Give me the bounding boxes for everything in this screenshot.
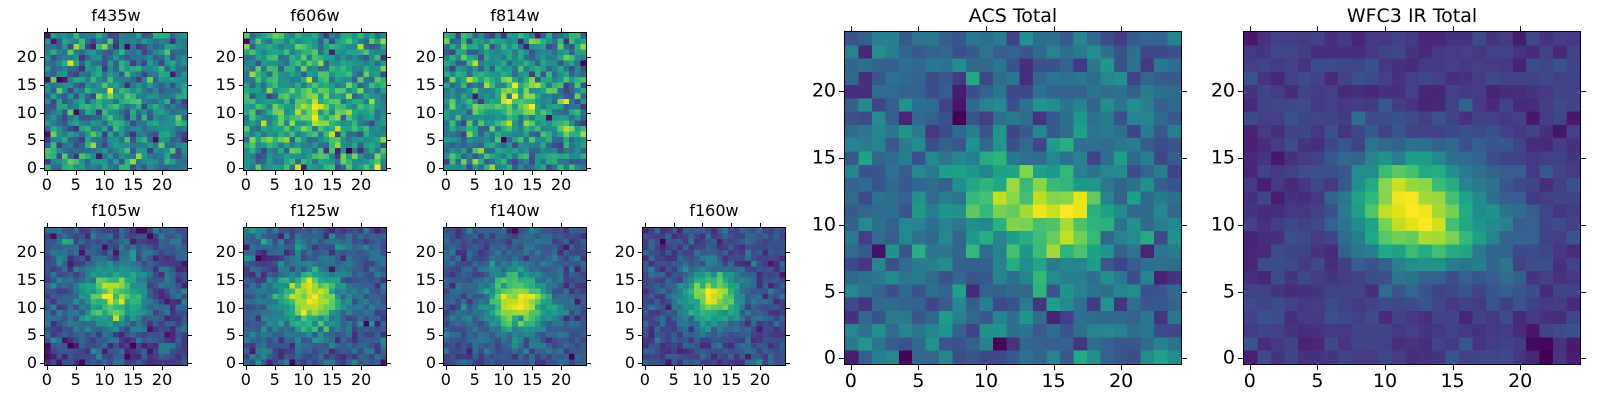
x-tick-top-f140w-3 (532, 223, 533, 227)
y-tick-label-f105w-3: 15 (0, 272, 37, 288)
x-tick-top-f160w-0 (645, 223, 646, 227)
y-tick-f105w-3 (40, 280, 44, 281)
y-tick-f140w-4 (439, 252, 443, 253)
y-tick-f435w-4 (40, 57, 44, 58)
y-tick-label-f140w-2: 10 (383, 300, 436, 316)
y-tick-label-wfc3-ir-total-1: 5 (1183, 282, 1235, 301)
y-tick-f435w-3 (40, 85, 44, 86)
y-tick-acs-total-3 (839, 158, 844, 159)
panel-title-f140w: f140w (443, 203, 587, 219)
y-tick-label-acs-total-1: 5 (784, 282, 836, 301)
y-tick-f606w-2 (239, 113, 243, 114)
x-tick-label-f160w-2: 10 (692, 372, 712, 388)
y-tick-f814w-0 (439, 168, 443, 169)
x-tick-label-wfc3-ir-total-2: 10 (1373, 372, 1397, 391)
y-tick-right-f814w-4 (587, 57, 591, 58)
y-tick-label-f160w-1: 5 (582, 327, 635, 343)
x-tick-top-f105w-0 (47, 223, 48, 227)
x-tick-label-f606w-1: 5 (270, 177, 280, 193)
x-tick-label-f125w-4: 20 (351, 372, 371, 388)
y-tick-label-f606w-4: 20 (183, 49, 236, 65)
x-tick-label-acs-total-2: 10 (974, 372, 998, 391)
x-tick-label-f105w-3: 15 (123, 372, 143, 388)
panel-wfc3-ir-total: WFC3 IR Total0510152005101520 (1183, 5, 1600, 395)
y-tick-f125w-3 (239, 280, 243, 281)
heatmap-image-f160w (642, 227, 786, 366)
y-tick-label-f435w-0: 0 (0, 160, 37, 176)
y-tick-label-f435w-3: 15 (0, 77, 37, 93)
y-tick-label-f160w-3: 15 (582, 272, 635, 288)
x-tick-top-f160w-2 (702, 223, 703, 227)
x-tick-label-wfc3-ir-total-1: 5 (1311, 372, 1323, 391)
y-tick-label-wfc3-ir-total-3: 15 (1183, 148, 1235, 167)
y-tick-label-f814w-0: 0 (383, 160, 436, 176)
heatmap-image-f814w (443, 32, 587, 171)
y-tick-f105w-1 (40, 335, 44, 336)
y-tick-f435w-2 (40, 113, 44, 114)
y-tick-label-acs-total-3: 15 (784, 148, 836, 167)
y-tick-f140w-2 (439, 308, 443, 309)
x-tick-label-f140w-2: 10 (493, 372, 513, 388)
y-tick-acs-total-0 (839, 358, 844, 359)
x-tick-top-f814w-1 (475, 28, 476, 32)
y-tick-label-f814w-4: 20 (383, 49, 436, 65)
x-tick-top-f140w-2 (503, 223, 504, 227)
x-tick-top-f160w-1 (674, 223, 675, 227)
y-tick-acs-total-1 (839, 292, 844, 293)
y-tick-label-f125w-4: 20 (183, 244, 236, 260)
y-tick-wfc3-ir-total-3 (1238, 158, 1243, 159)
y-tick-f105w-2 (40, 308, 44, 309)
x-tick-label-f140w-1: 5 (470, 372, 480, 388)
x-tick-top-f160w-3 (731, 223, 732, 227)
y-tick-f814w-1 (439, 140, 443, 141)
y-tick-label-f435w-2: 10 (0, 105, 37, 121)
x-tick-top-f105w-1 (76, 223, 77, 227)
x-tick-label-f814w-2: 10 (493, 177, 513, 193)
y-tick-f125w-4 (239, 252, 243, 253)
x-tick-top-wfc3-ir-total-2 (1385, 26, 1386, 31)
x-tick-label-f435w-0: 0 (42, 177, 52, 193)
y-tick-f435w-0 (40, 168, 44, 169)
y-tick-f160w-0 (638, 363, 642, 364)
y-tick-right-f814w-0 (587, 168, 591, 169)
y-tick-f606w-3 (239, 85, 243, 86)
x-tick-top-f140w-4 (561, 223, 562, 227)
x-tick-top-acs-total-0 (851, 26, 852, 31)
y-tick-label-f814w-3: 15 (383, 77, 436, 93)
y-tick-wfc3-ir-total-0 (1238, 358, 1243, 359)
y-tick-label-f606w-2: 10 (183, 105, 236, 121)
x-tick-label-wfc3-ir-total-3: 15 (1440, 372, 1464, 391)
y-tick-f606w-0 (239, 168, 243, 169)
y-tick-label-f160w-4: 20 (582, 244, 635, 260)
x-tick-top-f814w-3 (532, 28, 533, 32)
x-tick-top-f105w-2 (104, 223, 105, 227)
panel-title-wfc3-ir-total: WFC3 IR Total (1243, 7, 1581, 26)
y-tick-label-acs-total-2: 10 (784, 215, 836, 234)
y-tick-label-f105w-2: 10 (0, 300, 37, 316)
x-tick-label-f435w-4: 20 (152, 177, 172, 193)
panel-title-f125w: f125w (243, 203, 387, 219)
x-tick-top-f435w-2 (104, 28, 105, 32)
x-tick-top-f105w-4 (162, 223, 163, 227)
y-tick-f140w-1 (439, 335, 443, 336)
y-tick-f160w-3 (638, 280, 642, 281)
y-tick-label-f435w-1: 5 (0, 132, 37, 148)
heatmap-image-f435w (44, 32, 188, 171)
y-tick-label-f814w-2: 10 (383, 105, 436, 121)
y-tick-label-f125w-0: 0 (183, 355, 236, 371)
y-tick-right-wfc3-ir-total-0 (1581, 358, 1586, 359)
x-tick-top-acs-total-3 (1054, 26, 1055, 31)
y-tick-right-f814w-3 (587, 85, 591, 86)
y-tick-f606w-4 (239, 57, 243, 58)
x-tick-label-f140w-4: 20 (551, 372, 571, 388)
y-tick-right-wfc3-ir-total-4 (1581, 91, 1586, 92)
y-tick-label-acs-total-0: 0 (784, 349, 836, 368)
y-tick-f125w-1 (239, 335, 243, 336)
y-tick-right-wfc3-ir-total-1 (1581, 292, 1586, 293)
y-tick-label-wfc3-ir-total-4: 20 (1183, 82, 1235, 101)
panel-title-f814w: f814w (443, 8, 587, 24)
panel-f814w: f814w0510152005101520 (383, 6, 647, 201)
panel-title-f435w: f435w (44, 8, 188, 24)
y-tick-right-f814w-2 (587, 113, 591, 114)
y-tick-f814w-2 (439, 113, 443, 114)
y-tick-f160w-4 (638, 252, 642, 253)
x-tick-top-acs-total-2 (986, 26, 987, 31)
y-tick-label-f125w-1: 5 (183, 327, 236, 343)
x-tick-top-f125w-1 (275, 223, 276, 227)
y-tick-label-wfc3-ir-total-2: 10 (1183, 215, 1235, 234)
x-tick-label-f606w-2: 10 (293, 177, 313, 193)
y-tick-label-f105w-0: 0 (0, 355, 37, 371)
x-tick-label-f160w-1: 5 (669, 372, 679, 388)
x-tick-top-acs-total-1 (918, 26, 919, 31)
x-tick-top-f814w-2 (503, 28, 504, 32)
panel-title-f606w: f606w (243, 8, 387, 24)
x-tick-top-f435w-1 (76, 28, 77, 32)
x-tick-label-f814w-4: 20 (551, 177, 571, 193)
y-tick-label-f125w-3: 15 (183, 272, 236, 288)
y-tick-label-f814w-1: 5 (383, 132, 436, 148)
x-tick-label-f105w-4: 20 (152, 372, 172, 388)
x-tick-label-acs-total-1: 5 (912, 372, 924, 391)
y-tick-f160w-1 (638, 335, 642, 336)
panel-title-f105w: f105w (44, 203, 188, 219)
x-tick-top-f435w-0 (47, 28, 48, 32)
panel-acs-total: ACS Total0510152005101520 (784, 5, 1242, 395)
x-tick-label-f814w-0: 0 (441, 177, 451, 193)
y-tick-label-f606w-1: 5 (183, 132, 236, 148)
y-tick-f140w-3 (439, 280, 443, 281)
x-tick-label-f105w-1: 5 (71, 372, 81, 388)
heatmap-image-f140w (443, 227, 587, 366)
y-tick-f125w-2 (239, 308, 243, 309)
x-tick-label-f160w-4: 20 (750, 372, 770, 388)
y-tick-label-f140w-0: 0 (383, 355, 436, 371)
y-tick-f606w-1 (239, 140, 243, 141)
y-tick-wfc3-ir-total-4 (1238, 91, 1243, 92)
x-tick-label-f435w-2: 10 (94, 177, 114, 193)
y-tick-label-f140w-1: 5 (383, 327, 436, 343)
x-tick-top-wfc3-ir-total-3 (1453, 26, 1454, 31)
y-tick-label-f160w-2: 10 (582, 300, 635, 316)
y-tick-label-f606w-3: 15 (183, 77, 236, 93)
x-tick-label-f125w-0: 0 (241, 372, 251, 388)
y-tick-label-f105w-1: 5 (0, 327, 37, 343)
y-tick-label-f160w-0: 0 (582, 355, 635, 371)
x-tick-top-acs-total-4 (1121, 26, 1122, 31)
x-tick-label-f140w-3: 15 (522, 372, 542, 388)
y-tick-label-f140w-4: 20 (383, 244, 436, 260)
x-tick-label-f105w-0: 0 (42, 372, 52, 388)
y-tick-label-f606w-0: 0 (183, 160, 236, 176)
heatmap-image-f606w (243, 32, 387, 171)
x-tick-top-f435w-3 (133, 28, 134, 32)
y-tick-wfc3-ir-total-2 (1238, 225, 1243, 226)
x-tick-label-f606w-0: 0 (241, 177, 251, 193)
heatmap-image-wfc3-ir-total (1243, 31, 1581, 365)
x-tick-label-f125w-2: 10 (293, 372, 313, 388)
x-tick-top-f125w-2 (303, 223, 304, 227)
x-tick-label-wfc3-ir-total-4: 20 (1508, 372, 1532, 391)
y-tick-label-f125w-2: 10 (183, 300, 236, 316)
y-tick-label-wfc3-ir-total-0: 0 (1183, 349, 1235, 368)
x-tick-label-wfc3-ir-total-0: 0 (1244, 372, 1256, 391)
x-tick-top-f606w-3 (332, 28, 333, 32)
x-tick-label-f140w-0: 0 (441, 372, 451, 388)
y-tick-acs-total-2 (839, 225, 844, 226)
x-tick-top-f140w-0 (446, 223, 447, 227)
x-tick-top-wfc3-ir-total-4 (1520, 26, 1521, 31)
y-tick-f140w-0 (439, 363, 443, 364)
x-tick-top-f606w-1 (275, 28, 276, 32)
x-tick-label-f606w-3: 15 (322, 177, 342, 193)
panel-title-f160w: f160w (642, 203, 786, 219)
x-tick-label-acs-total-3: 15 (1041, 372, 1065, 391)
x-tick-top-f105w-3 (133, 223, 134, 227)
y-tick-f105w-0 (40, 363, 44, 364)
x-tick-label-f125w-3: 15 (322, 372, 342, 388)
x-tick-top-f125w-3 (332, 223, 333, 227)
x-tick-top-f125w-4 (361, 223, 362, 227)
x-tick-top-f814w-4 (561, 28, 562, 32)
x-tick-top-f435w-4 (162, 28, 163, 32)
x-tick-top-f125w-0 (246, 223, 247, 227)
x-tick-label-f125w-1: 5 (270, 372, 280, 388)
x-tick-label-f814w-3: 15 (522, 177, 542, 193)
y-tick-right-wfc3-ir-total-2 (1581, 225, 1586, 226)
x-tick-label-f435w-1: 5 (71, 177, 81, 193)
x-tick-label-f606w-4: 20 (351, 177, 371, 193)
x-tick-label-f435w-3: 15 (123, 177, 143, 193)
y-tick-f814w-3 (439, 85, 443, 86)
y-tick-acs-total-4 (839, 91, 844, 92)
heatmap-image-f125w (243, 227, 387, 366)
x-tick-top-wfc3-ir-total-0 (1250, 26, 1251, 31)
y-tick-right-f814w-1 (587, 140, 591, 141)
x-tick-top-f606w-0 (246, 28, 247, 32)
x-tick-top-f606w-2 (303, 28, 304, 32)
x-tick-label-acs-total-0: 0 (845, 372, 857, 391)
y-tick-f105w-4 (40, 252, 44, 253)
y-tick-label-f435w-4: 20 (0, 49, 37, 65)
x-tick-top-f160w-4 (760, 223, 761, 227)
y-tick-label-f140w-3: 15 (383, 272, 436, 288)
x-tick-label-acs-total-4: 20 (1109, 372, 1133, 391)
x-tick-label-f160w-0: 0 (640, 372, 650, 388)
y-tick-wfc3-ir-total-1 (1238, 292, 1243, 293)
heatmap-image-f105w (44, 227, 188, 366)
x-tick-top-f140w-1 (475, 223, 476, 227)
y-tick-f814w-4 (439, 57, 443, 58)
x-tick-label-f814w-1: 5 (470, 177, 480, 193)
y-tick-label-acs-total-4: 20 (784, 82, 836, 101)
y-tick-f160w-2 (638, 308, 642, 309)
x-tick-top-wfc3-ir-total-1 (1317, 26, 1318, 31)
panel-title-acs-total: ACS Total (844, 7, 1182, 26)
y-tick-f125w-0 (239, 363, 243, 364)
x-tick-label-f160w-3: 15 (721, 372, 741, 388)
y-tick-f435w-1 (40, 140, 44, 141)
x-tick-top-f814w-0 (446, 28, 447, 32)
y-tick-right-wfc3-ir-total-3 (1581, 158, 1586, 159)
x-tick-label-f105w-2: 10 (94, 372, 114, 388)
figure-canvas: f435w0510152005101520f606w05101520051015… (0, 0, 1600, 400)
x-tick-top-f606w-4 (361, 28, 362, 32)
heatmap-image-acs-total (844, 31, 1182, 365)
y-tick-label-f105w-4: 20 (0, 244, 37, 260)
